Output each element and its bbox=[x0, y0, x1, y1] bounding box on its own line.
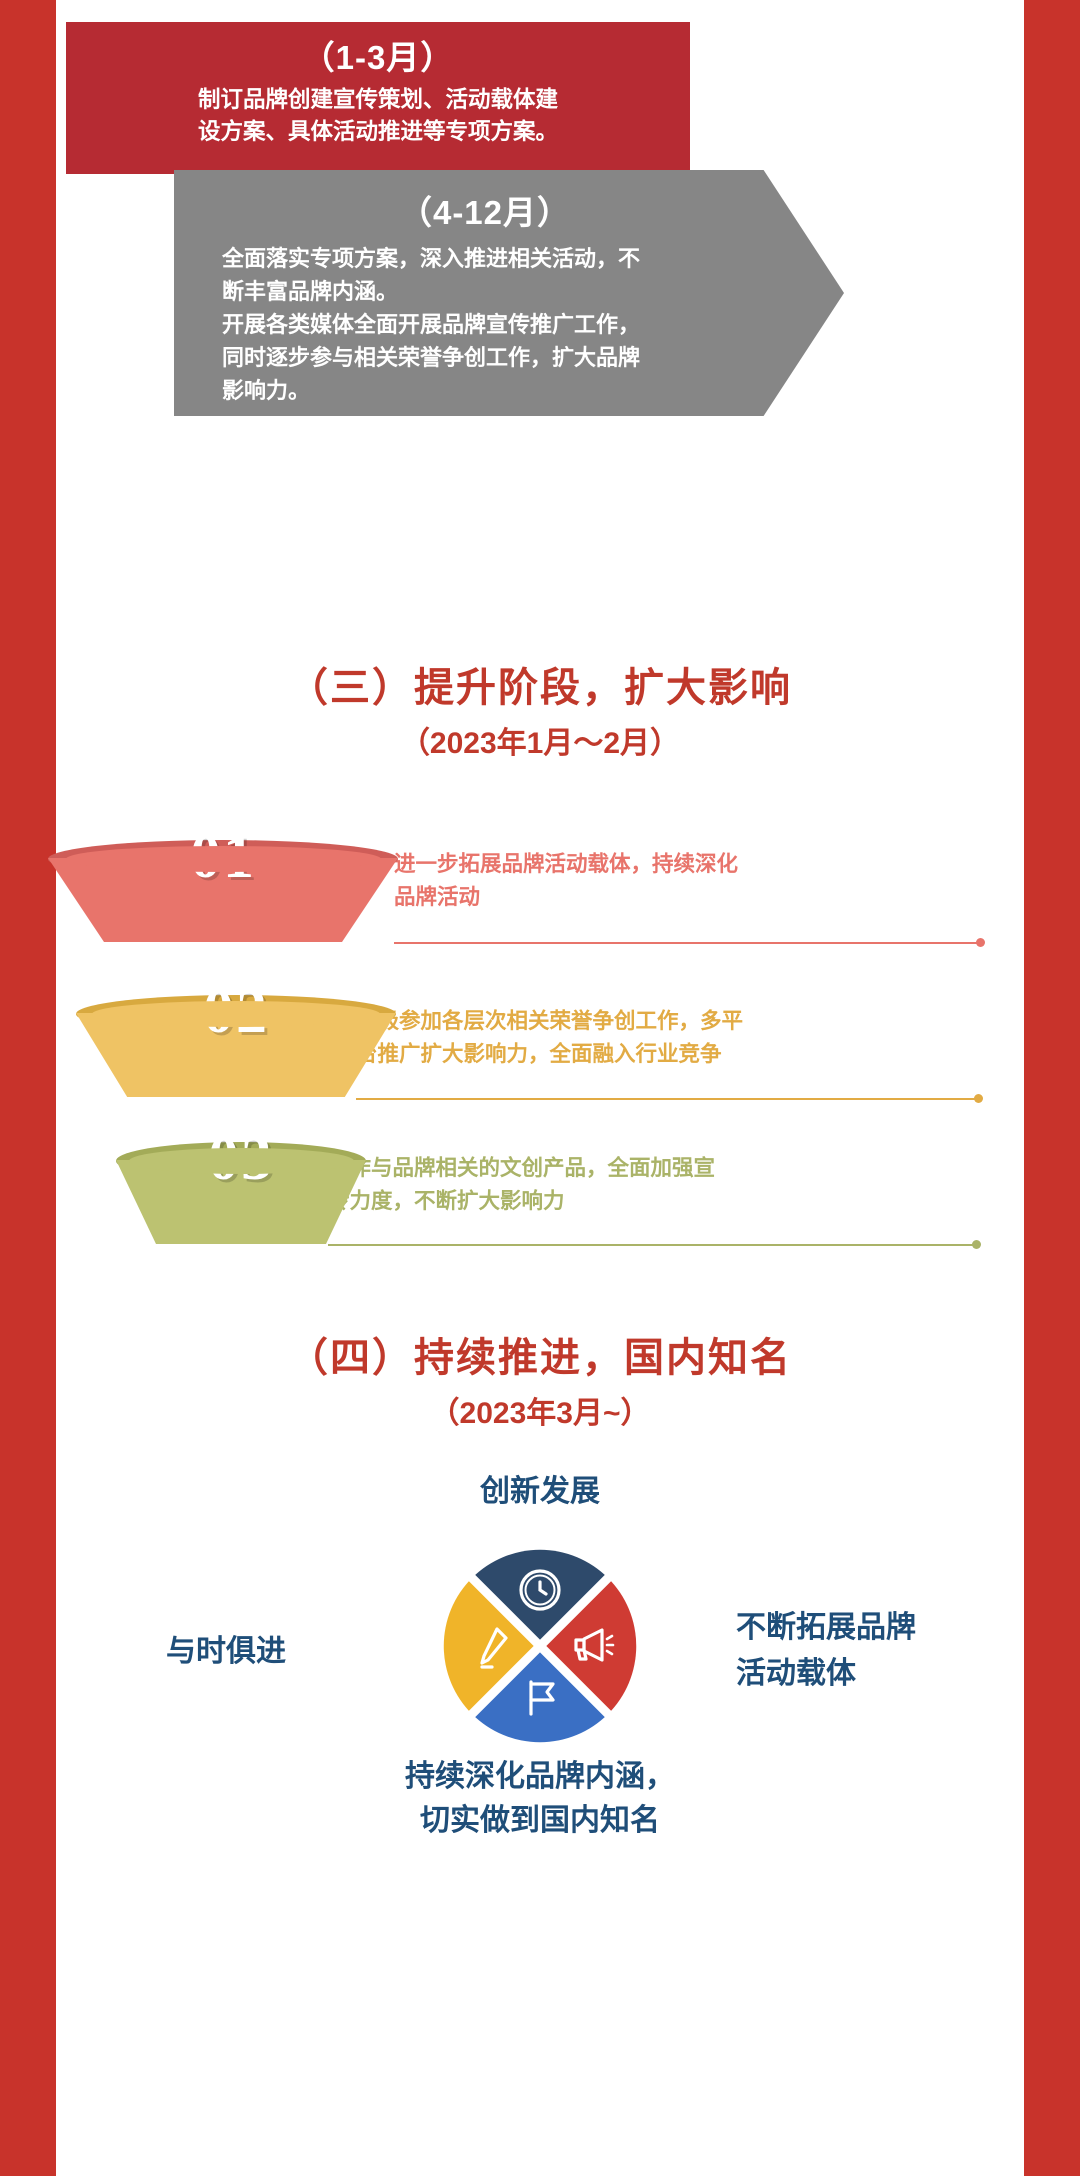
bowl-underline-02 bbox=[356, 1098, 978, 1100]
bowl-text-line: 台推广扩大影响力，全面融入行业竞争 bbox=[356, 1038, 976, 1071]
bowl-text-line: 品牌活动 bbox=[394, 881, 994, 914]
bowl-text-02: 积极参加各层次相关荣誉争创工作，多平 台推广扩大影响力，全面融入行业竞争 bbox=[356, 1005, 976, 1071]
bowl-enddot-01 bbox=[976, 938, 985, 947]
wheel-label-right: 不断拓展品牌 活动载体 bbox=[736, 1605, 1026, 1697]
banner-phase-1-3: （1-3月） 制订品牌创建宣传策划、活动载体建 设方案、具体活动推进等专项方案。 bbox=[66, 22, 690, 174]
wheel-label-line: 不断拓展品牌 bbox=[736, 1605, 1026, 1651]
wheel-label-line: 切实做到国内知名 bbox=[56, 1799, 1024, 1843]
wheel-label-bottom: 持续深化品牌内涵， 切实做到国内知名 bbox=[56, 1755, 1024, 1843]
banner-phase-1-3-body: 制订品牌创建宣传策划、活动载体建 设方案、具体活动推进等专项方案。 bbox=[94, 84, 662, 148]
bowl-text-line: 制作与品牌相关的文创产品，全面加强宣 bbox=[328, 1152, 968, 1185]
bowl-text-line: 进一步拓展品牌活动载体，持续深化 bbox=[394, 848, 994, 881]
banner-line: 开展各类媒体全面开展品牌宣传推广工作， bbox=[222, 308, 748, 341]
wheel-label-line: 活动载体 bbox=[736, 1651, 1026, 1697]
bowl-underline-03 bbox=[328, 1244, 976, 1246]
wheel-diagram: 创新发展 与时俱进 不断拓展品牌 活动载体 持续深化品牌内涵， 切实做到国内知名 bbox=[56, 1450, 1024, 2070]
bowl-underline-01 bbox=[394, 942, 980, 944]
section-three-heading: （三）提升阶段，扩大影响 bbox=[56, 660, 1024, 716]
banner-phase-4-12: （4-12月） 全面落实专项方案，深入推进相关活动，不 断丰富品牌内涵。 开展各… bbox=[174, 170, 844, 416]
bowl-shape-01: 01 bbox=[48, 830, 398, 948]
bowl-rim-inner bbox=[129, 1148, 354, 1174]
banner-phase-1-3-title: （1-3月） bbox=[94, 36, 662, 80]
wheel-graphic bbox=[420, 1526, 660, 1766]
bowl-text-03: 制作与品牌相关的文创产品，全面加强宣 传力度，不断扩大影响力 bbox=[328, 1152, 968, 1218]
banner-line: 断丰富品牌内涵。 bbox=[222, 275, 748, 308]
bowl-text-line: 积极参加各层次相关荣誉争创工作，多平 bbox=[356, 1005, 976, 1038]
banner-phase-4-12-title: （4-12月） bbox=[222, 190, 748, 236]
bowl-text-line: 传力度，不断扩大影响力 bbox=[328, 1185, 968, 1218]
banner-line: 影响力。 bbox=[222, 374, 748, 407]
section-three-heading-group: （三）提升阶段，扩大影响 （2023年1月～2月） bbox=[56, 660, 1024, 768]
bowl-text-01: 进一步拓展品牌活动载体，持续深化 品牌活动 bbox=[394, 848, 994, 914]
banner-line: 全面落实专项方案，深入推进相关活动，不 bbox=[222, 242, 748, 275]
section-four-subheading: （2023年3月~） bbox=[56, 1390, 1024, 1438]
wheel-label-top: 创新发展 bbox=[56, 1470, 1024, 1514]
section-three-subheading: （2023年1月～2月） bbox=[56, 720, 1024, 768]
bowl-rim-inner bbox=[92, 1001, 380, 1027]
wheel-label-left: 与时俱进 bbox=[66, 1630, 286, 1674]
banner-line: 同时逐步参与相关荣誉争创工作，扩大品牌 bbox=[222, 341, 748, 374]
infographic-page: （1-3月） 制订品牌创建宣传策划、活动载体建 设方案、具体活动推进等专项方案。… bbox=[56, 0, 1024, 2176]
banner-line: 设方案、具体活动推进等专项方案。 bbox=[94, 116, 662, 148]
banner-phase-4-12-body: 全面落实专项方案，深入推进相关活动，不 断丰富品牌内涵。 开展各类媒体全面开展品… bbox=[222, 242, 748, 407]
bowl-shape-02: 02 bbox=[76, 985, 396, 1103]
bowl-rim-inner bbox=[66, 846, 381, 872]
bowl-enddot-03 bbox=[972, 1240, 981, 1249]
section-three-items: 01 进一步拓展品牌活动载体，持续深化 品牌活动 02 积极参加各层次相关荣誉争… bbox=[56, 830, 1024, 1300]
banner-line: 制订品牌创建宣传策划、活动载体建 bbox=[94, 84, 662, 116]
bowl-enddot-02 bbox=[974, 1094, 983, 1103]
section-four-heading-group: （四）持续推进，国内知名 （2023年3月~） bbox=[56, 1330, 1024, 1438]
banner-group: （1-3月） 制订品牌创建宣传策划、活动载体建 设方案、具体活动推进等专项方案。… bbox=[56, 0, 1024, 430]
bowl-shape-03: 03 bbox=[116, 1132, 366, 1250]
section-four-heading: （四）持续推进，国内知名 bbox=[56, 1330, 1024, 1386]
